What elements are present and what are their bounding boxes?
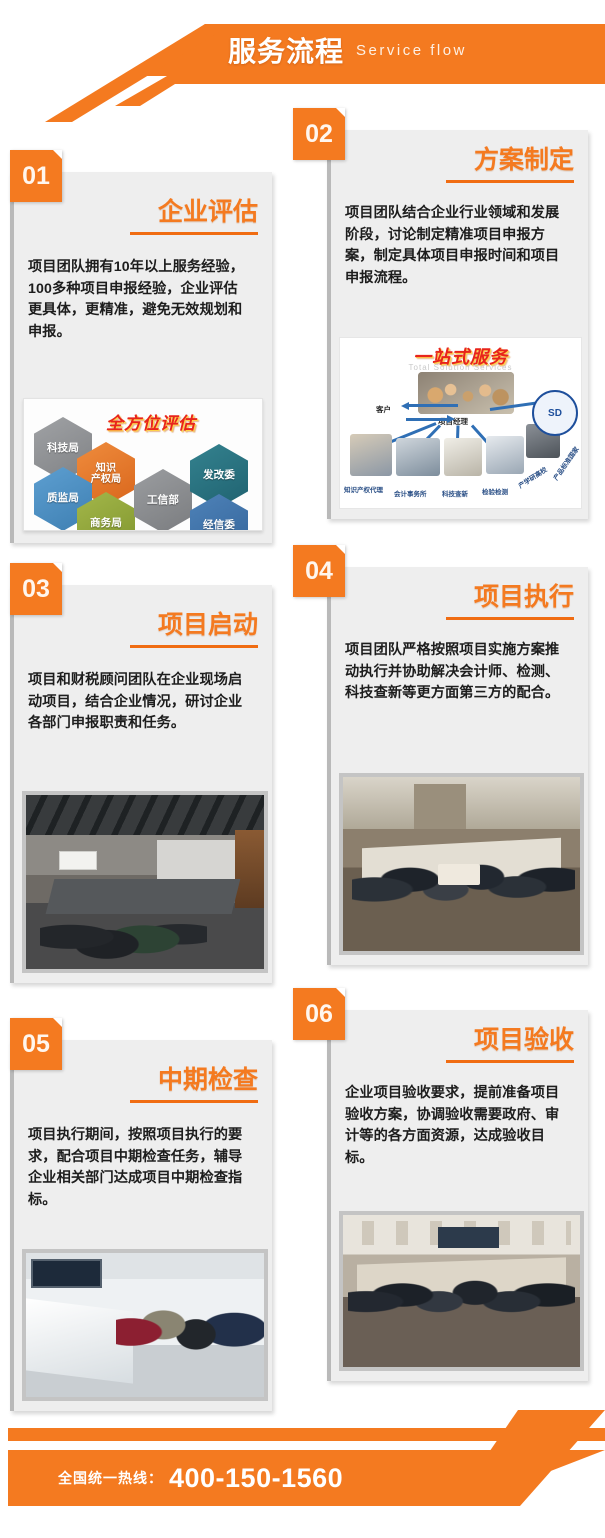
hex-node-jingxinwei: 经信委 xyxy=(190,494,248,531)
card-01-title-rule xyxy=(130,232,258,235)
step-badge-05-number: 05 xyxy=(22,1030,50,1059)
footer-hotline-label: 全国统一热线： xyxy=(58,1468,163,1488)
step-card-03[interactable]: 项目启动 项目和财税顾问团队在企业现场启动项目，结合企业情况，研讨企业各部门申报… xyxy=(10,585,272,983)
step-card-04[interactable]: 项目执行 项目团队严格按照项目实施方案推动执行并协助解决会计师、检测、科技查新等… xyxy=(327,567,588,965)
card-01-title: 企业评估 xyxy=(28,200,258,225)
hex-node-shangwuju-label: 商务局 xyxy=(90,518,122,530)
step-badge-03: 03 xyxy=(10,563,62,615)
step-badge-02-number: 02 xyxy=(305,120,333,149)
hex-node-fagaiwei-label: 发改委 xyxy=(203,470,235,482)
oss-label-inspection: 检验检测 xyxy=(482,486,508,496)
step-badge-06: 06 xyxy=(293,988,345,1040)
hexagon-infographic-title: 全方位评估 xyxy=(106,409,196,434)
step-badge-04: 04 xyxy=(293,545,345,597)
hexagon-infographic: 全方位评估 科技局 知识产权局 质监局 商务局 工信部 发改委 经信委 xyxy=(23,398,263,531)
footer-hotline: 全国统一热线： 400-150-1560 xyxy=(58,1450,343,1506)
hex-node-zhishichanquan-label: 知识产权局 xyxy=(91,463,122,485)
card-05-title-rule xyxy=(130,1100,258,1103)
oss-label-tech-search: 科技查新 xyxy=(442,488,468,498)
oss-arrow-to-manager xyxy=(406,418,448,421)
card-02-body: 项目团队结合企业行业领域和发展阶段，讨论制定精准项目申报方案，制定具体项目申报时… xyxy=(345,203,567,289)
card-02-text: 方案制定 项目团队结合企业行业领域和发展阶段，讨论制定精准项目申报方案，制定具体… xyxy=(331,130,588,289)
hex-node-zhijianju-label: 质监局 xyxy=(47,493,79,505)
step-badge-04-number: 04 xyxy=(305,557,333,586)
hex-node-jingxinwei-label: 经信委 xyxy=(203,520,235,531)
card-05-body: 项目执行期间，按照项目执行的要求，配合项目中期检查任务，辅导企业相关部门达成项目… xyxy=(28,1125,250,1211)
step-card-06[interactable]: 项目验收 企业项目验收要求，提前准备项目验收方案，协调验收需要政府、审计等的各方… xyxy=(327,1010,588,1381)
card-06-title-rule xyxy=(446,1060,574,1063)
hex-node-keji-label: 科技局 xyxy=(47,443,79,455)
hex-node-gongxinbu: 工信部 xyxy=(134,469,192,531)
page-title: 服务流程 xyxy=(228,30,344,70)
oss-label-ip-agency: 知识产权代理 xyxy=(344,484,383,494)
conference-table-photo xyxy=(339,773,584,955)
oss-standard-seal-icon: SD xyxy=(532,390,578,436)
step-card-01[interactable]: 企业评估 项目团队拥有10年以上服务经验，100多种项目申报经验，企业评估更具体… xyxy=(10,172,272,543)
oss-hub-label-customer: 客户 xyxy=(376,404,391,415)
step-badge-02: 02 xyxy=(293,108,345,160)
page-header: 服务流程 Service flow xyxy=(0,0,605,112)
oss-node-inspection xyxy=(486,436,524,474)
hex-node-gongxinbu-label: 工信部 xyxy=(147,495,179,507)
card-04-title-rule xyxy=(446,617,574,620)
card-03-title-rule xyxy=(130,645,258,648)
site-visit-photo xyxy=(22,1249,268,1401)
card-04-text: 项目执行 项目团队严格按照项目实施方案推动执行并协助解决会计师、检测、科技查新等… xyxy=(331,567,588,705)
card-01-body: 项目团队拥有10年以上服务经验，100多种项目申报经验，企业评估更具体，更精准，… xyxy=(28,257,250,343)
oss-seal-text: SD xyxy=(548,408,562,419)
acceptance-meeting-photo xyxy=(339,1211,584,1371)
oss-subtitle: Total Solution Services xyxy=(409,363,513,372)
card-04-title: 项目执行 xyxy=(345,585,574,610)
card-03-title: 项目启动 xyxy=(28,613,258,638)
card-02-title: 方案制定 xyxy=(345,148,574,173)
footer-thin-bar xyxy=(0,1428,605,1441)
card-02-title-rule xyxy=(446,180,574,183)
card-03-body: 项目和财税顾问团队在企业现场启动项目，结合企业情况，研讨企业各部门申报职责和任务… xyxy=(28,670,250,735)
card-05-title: 中期检查 xyxy=(28,1068,258,1093)
card-06-body: 企业项目验收要求，提前准备项目验收方案，协调验收需要政府、审计等的各方面资源，达… xyxy=(345,1083,567,1169)
step-badge-03-number: 03 xyxy=(22,575,50,604)
header-title-group: 服务流程 Service flow xyxy=(0,24,605,76)
step-card-05[interactable]: 中期检查 项目执行期间，按照项目执行的要求，配合项目中期检查任务，辅导企业相关部… xyxy=(10,1040,272,1411)
oss-node-tech-search xyxy=(444,438,482,476)
footer-hotline-number[interactable]: 400-150-1560 xyxy=(169,1463,343,1494)
step-card-02[interactable]: 方案制定 项目团队结合企业行业领域和发展阶段，讨论制定精准项目申报方案，制定具体… xyxy=(327,130,588,519)
step-badge-06-number: 06 xyxy=(305,1000,333,1029)
oss-node-accounting xyxy=(396,438,440,476)
step-badge-01: 01 xyxy=(10,150,62,202)
card-06-title: 项目验收 xyxy=(345,1028,574,1053)
step-badge-01-number: 01 xyxy=(22,162,50,191)
oss-node-ip-agency xyxy=(350,434,392,476)
card-06-text: 项目验收 企业项目验收要求，提前准备项目验收方案，协调验收需要政府、审计等的各方… xyxy=(331,1010,588,1169)
one-stop-service-infographic: 一站式服务 Total Solution Services 客户 项目经理 SD… xyxy=(339,337,582,509)
page-subtitle: Service flow xyxy=(356,42,467,59)
page-footer: 全国统一热线： 400-150-1560 xyxy=(0,1420,605,1538)
card-04-body: 项目团队严格按照项目实施方案推动执行并协助解决会计师、检测、科技查新等更方面第三… xyxy=(345,640,567,705)
step-badge-05: 05 xyxy=(10,1018,62,1070)
meeting-room-photo xyxy=(22,791,268,973)
oss-arrow-to-customer xyxy=(408,404,458,407)
oss-label-accounting: 会计事务所 xyxy=(394,488,427,498)
